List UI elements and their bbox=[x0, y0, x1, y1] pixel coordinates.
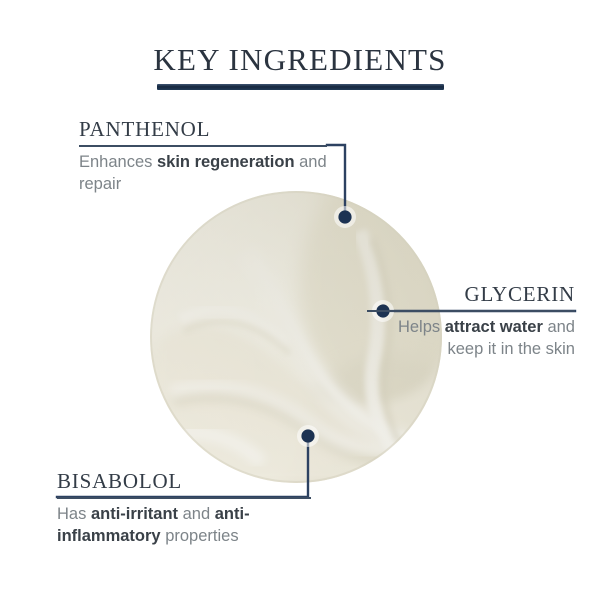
desc-text-regular: Helps bbox=[398, 318, 445, 336]
callout-heading-bisabolol: BISABOLOL bbox=[57, 470, 311, 493]
desc-text-regular: Enhances bbox=[79, 153, 157, 171]
desc-text-bold: skin regeneration bbox=[157, 153, 295, 171]
callout-rule-glycerin bbox=[367, 310, 575, 312]
page-title: KEY INGREDIENTS bbox=[0, 44, 600, 75]
desc-text-regular-3: properties bbox=[161, 527, 239, 545]
callout-heading-panthenol: PANTHENOL bbox=[79, 118, 327, 141]
callout-heading-glycerin: GLYCERIN bbox=[367, 283, 575, 306]
infographic-canvas: KEY INGREDIENTS bbox=[0, 0, 600, 600]
callout-glycerin: GLYCERIN Helps attract water and keep it… bbox=[367, 283, 575, 361]
desc-text-regular: Has bbox=[57, 505, 91, 523]
callout-description-bisabolol: Has anti-irritant and anti-inflammatory … bbox=[57, 504, 311, 548]
title-underline-rule bbox=[157, 84, 444, 90]
page-title-block: KEY INGREDIENTS bbox=[0, 44, 600, 90]
callout-rule-bisabolol bbox=[57, 497, 311, 499]
callout-panthenol: PANTHENOL Enhances skin regeneration and… bbox=[79, 118, 327, 196]
desc-text-bold: attract water bbox=[445, 318, 543, 336]
callout-description-panthenol: Enhances skin regeneration and repair bbox=[79, 152, 327, 196]
desc-text-regular-2: and bbox=[178, 505, 215, 523]
callout-rule-panthenol bbox=[79, 145, 327, 147]
desc-text-bold: anti-irritant bbox=[91, 505, 178, 523]
callout-description-glycerin: Helps attract water and keep it in the s… bbox=[367, 317, 575, 361]
callout-bisabolol: BISABOLOL Has anti-irritant and anti-inf… bbox=[57, 470, 311, 548]
